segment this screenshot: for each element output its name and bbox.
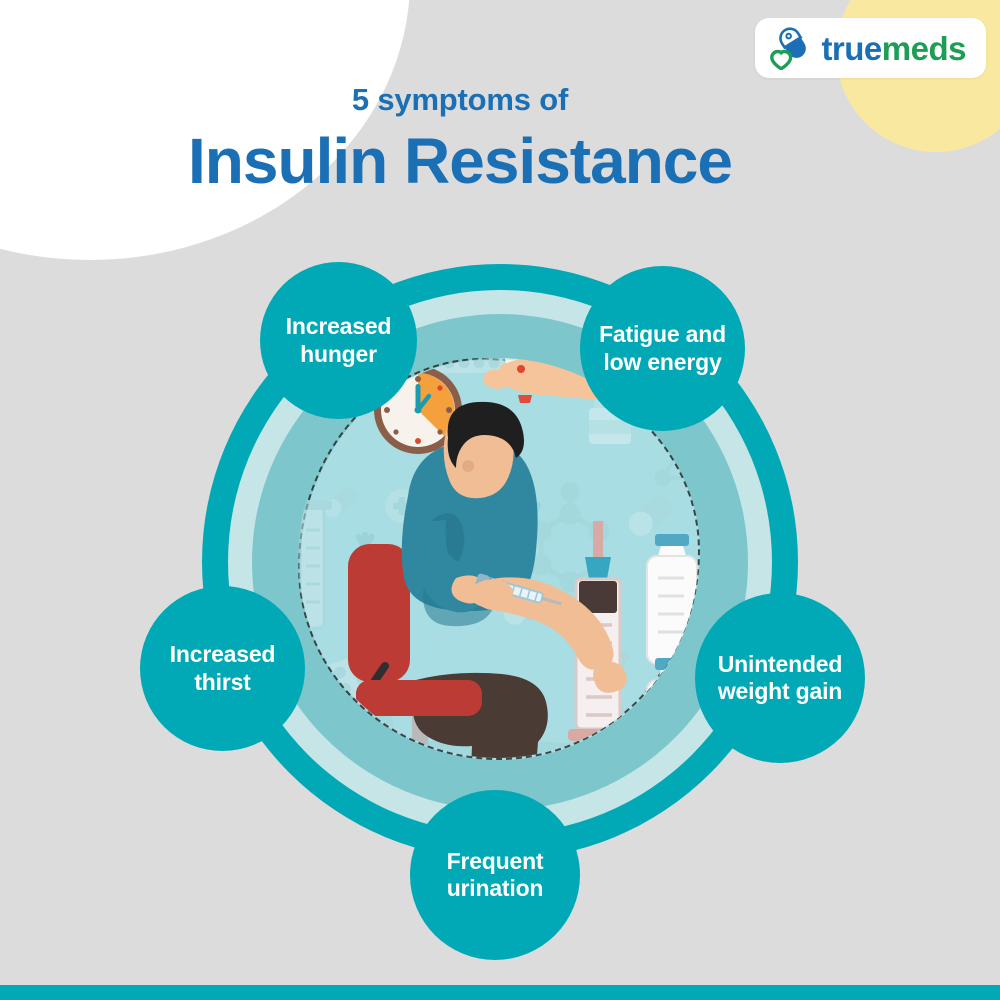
symptom-bubble-frequent-urination[interactable]: Frequent urination [410,790,580,960]
plastic-bottle-icon-2 [647,658,697,780]
medicine-jar-icon-2 [661,712,695,750]
symptom-bubble-fatigue-low-energy[interactable]: Fatigue and low energy [580,266,745,431]
logo-word-true: true [821,30,881,67]
page-title: Insulin Resistance [0,129,920,193]
infographic-canvas: truemeds 5 symptoms of Insulin Resistanc… [0,0,1000,1000]
plastic-bottle-icon-1 [647,534,697,664]
faint-syringe-icon [292,500,332,650]
symptom-bubble-increased-thirst[interactable]: Increased thirst [140,586,305,751]
iv-bag-reading: 14.0 [508,337,541,356]
symptom-bubble-increased-hunger[interactable]: Increased hunger [260,262,417,419]
headline-block: 5 symptoms of Insulin Resistance [0,84,1000,193]
symptom-bubble-unintended-weight-gain[interactable]: Unintended weight gain [695,593,865,763]
logo-word-meds: meds [882,30,966,67]
headline-eyebrow: 5 symptoms of [0,84,920,115]
office-chair-seat-front [356,680,482,716]
symptom-ring: 14.0 [180,248,820,928]
footer-bar [0,985,1000,1000]
truemeds-logo[interactable]: truemeds [755,18,986,78]
logo-wordmark: truemeds [821,32,966,65]
pill-heart-icon [769,26,813,70]
